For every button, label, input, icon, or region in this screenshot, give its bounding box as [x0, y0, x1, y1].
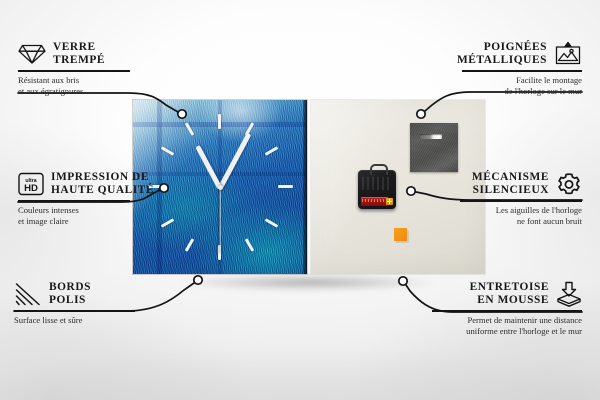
callout-rule	[460, 200, 582, 202]
callout-desc-line1: Couleurs intenses	[18, 205, 130, 216]
callout-desc-line1: Permet de maintenir une distance	[432, 315, 582, 326]
callout-bords-polis: BORDS POLIS Surface lisse et sûre	[14, 281, 135, 326]
callout-poignees-metalliques: POIGNÉES MÉTALLIQUES Facilite le montage…	[462, 41, 582, 96]
callout-verre-trempe: VERRE TREMPÉ Résistant aux bris et aux é…	[18, 41, 130, 96]
product-image	[133, 100, 485, 278]
callout-title: BORDS POLIS	[49, 281, 91, 307]
hour-marker	[218, 114, 221, 129]
callout-desc-line2: et aux égratignures	[18, 86, 130, 97]
metal-grain	[410, 123, 458, 172]
foam-spacer	[394, 228, 407, 241]
callout-header: ultra HD IMPRESSION DE HAUTE QUALITÉ	[18, 171, 130, 197]
callout-desc-line1: Facilite le montage	[462, 75, 582, 86]
callout-title: VERRE TREMPÉ	[53, 41, 105, 67]
callout-title: ENTRETOISE EN MOUSSE	[470, 281, 549, 307]
callout-header: MÉCANISME SILENCIEUX	[460, 171, 582, 197]
callout-mecanisme-silencieux: MÉCANISME SILENCIEUX Les aiguilles de l'…	[460, 171, 582, 226]
callout-header: BORDS POLIS	[14, 281, 135, 307]
callout-rule	[14, 310, 135, 312]
back-sheen	[311, 100, 485, 274]
hour-marker	[278, 185, 293, 188]
callout-impression-haute-qualite: ultra HD IMPRESSION DE HAUTE QUALITÉ Cou…	[18, 171, 130, 226]
clock-back-panel	[311, 100, 485, 274]
callout-desc-line2: ne font aucun bruit	[460, 216, 582, 227]
callout-rule	[18, 70, 130, 72]
battery	[361, 197, 388, 206]
hanger-loop	[370, 164, 388, 175]
callout-desc-line2: et image claire	[18, 216, 130, 227]
callout-desc-line1: Résistant aux bris	[18, 75, 130, 86]
callout-desc-line1: Les aiguilles de l'horloge	[460, 205, 582, 216]
press-down-foam-icon	[556, 281, 582, 307]
callout-header: VERRE TREMPÉ	[18, 41, 130, 67]
svg-text:HD: HD	[24, 183, 38, 194]
movement-vents	[362, 177, 392, 190]
callout-entretoise-en-mousse: ENTRETOISE EN MOUSSE Permet de maintenir…	[432, 281, 582, 336]
metal-hanger-plate	[410, 123, 458, 172]
infographic-canvas: VERRE TREMPÉ Résistant aux bris et aux é…	[0, 0, 600, 400]
second-hand	[219, 188, 220, 254]
callout-rule	[18, 200, 130, 202]
callout-desc-line2: de l'horloge sur le mur	[462, 86, 582, 97]
callout-rule	[462, 70, 582, 72]
polished-edge-icon	[14, 282, 42, 306]
hanger-slot	[420, 134, 442, 139]
clock-movement	[358, 170, 396, 209]
callout-rule	[432, 310, 582, 312]
framed-picture-icon	[554, 41, 582, 67]
gear-icon	[556, 172, 582, 197]
callout-header: POIGNÉES MÉTALLIQUES	[462, 41, 582, 67]
battery-plus-terminal	[386, 198, 393, 205]
ultra-hd-icon: ultra HD	[18, 172, 44, 196]
diamond-icon	[18, 43, 46, 65]
hands-hub	[218, 185, 223, 190]
clock-face-panel	[133, 100, 307, 274]
callout-desc-line1: Surface lisse et sûre	[14, 315, 135, 326]
callout-title: MÉCANISME SILENCIEUX	[472, 171, 549, 197]
glass-right-edge	[303, 100, 307, 274]
battery-label	[362, 199, 387, 202]
callout-header: ENTRETOISE EN MOUSSE	[432, 281, 582, 307]
callout-title: IMPRESSION DE HAUTE QUALITÉ	[51, 171, 154, 197]
callout-title: POIGNÉES MÉTALLIQUES	[457, 41, 547, 67]
callout-desc-line2: uniforme entre l'horloge et le mur	[432, 326, 582, 337]
